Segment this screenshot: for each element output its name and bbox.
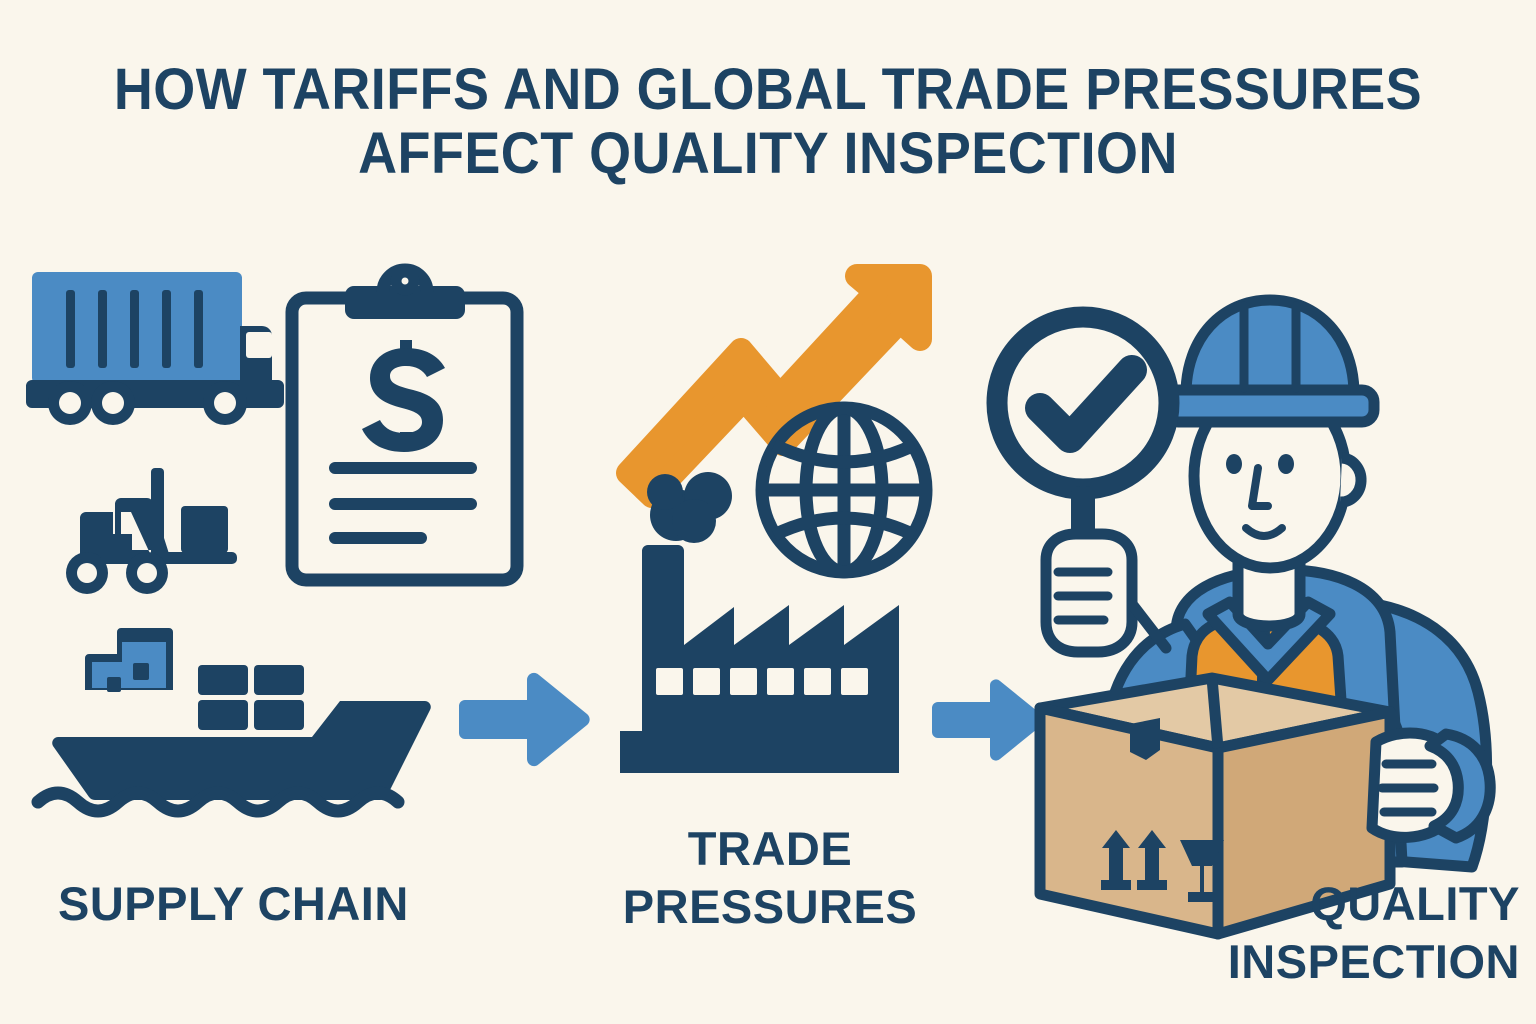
stage-label-trade-pressures: TRADE PRESSURES [560, 820, 980, 936]
label-line: PRESSURES [560, 878, 980, 936]
factory-icon [620, 545, 899, 773]
infographic-canvas: HOW TARIFFS AND GLOBAL TRADE PRESSURES A… [0, 0, 1536, 1024]
stage-label-quality-inspection: QUALITY INSPECTION [1020, 875, 1520, 991]
page-title: HOW TARIFFS AND GLOBAL TRADE PRESSURES A… [0, 58, 1536, 186]
inspector-worker-icon [980, 272, 1536, 882]
title-line-1: HOW TARIFFS AND GLOBAL TRADE PRESSURES [54, 58, 1482, 122]
label-line: INSPECTION [1020, 933, 1520, 991]
cargo-ship-icon [30, 620, 430, 835]
label-line: TRADE [560, 820, 980, 878]
stage-label-supply-chain: SUPPLY CHAIN [58, 875, 409, 933]
label-line: QUALITY [1020, 875, 1520, 933]
trade-pressures-art [608, 268, 958, 788]
label-line: SUPPLY CHAIN [58, 875, 409, 933]
smoke-icon [647, 472, 732, 543]
truck-icon [18, 268, 288, 428]
globe-icon [762, 408, 926, 572]
hard-hat-icon [1166, 300, 1374, 422]
forklift-icon [55, 468, 255, 598]
clipboard-dollar-icon [283, 266, 526, 586]
magnifier-check-icon [997, 317, 1169, 560]
left-hand [1046, 534, 1166, 652]
right-arrow-icon [455, 672, 595, 762]
title-line-2: AFFECT QUALITY INSPECTION [54, 122, 1482, 186]
